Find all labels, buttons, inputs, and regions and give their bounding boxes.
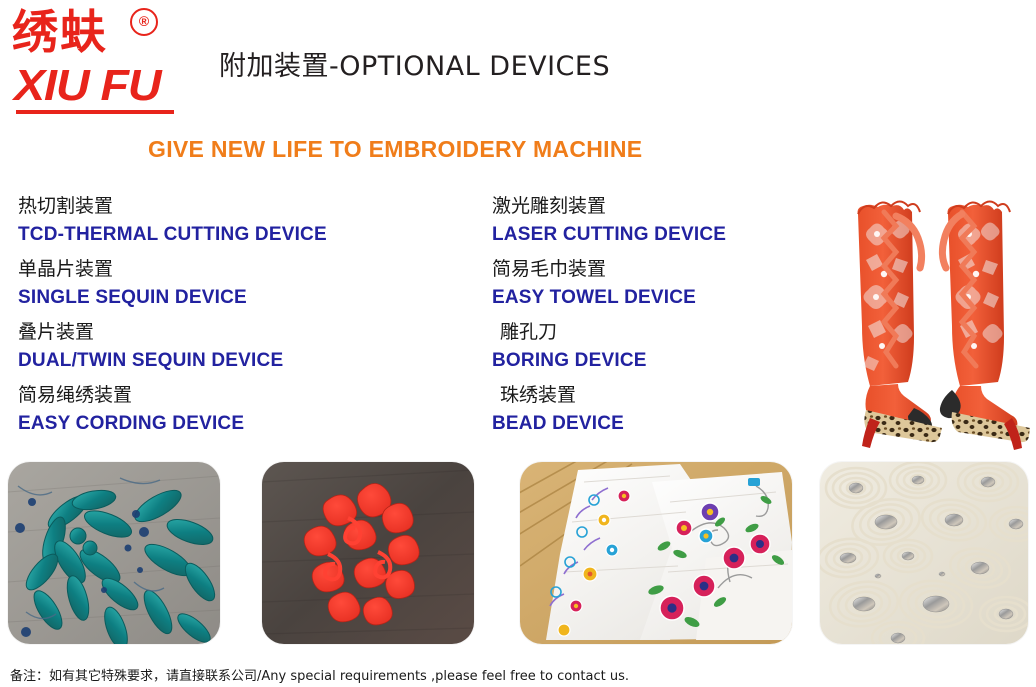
device-name-en: LASER CUTTING DEVICE — [492, 220, 812, 250]
list-item: 单晶片装置 SINGLE SEQUIN DEVICE — [18, 255, 478, 318]
boots-photo — [818, 186, 1032, 452]
photo-gallery — [0, 462, 1036, 644]
page-title: 附加装置-OPTIONAL DEVICES — [219, 44, 610, 83]
gallery-photo-towel-embroidery — [520, 462, 792, 644]
device-name-en: BORING DEVICE — [492, 346, 812, 376]
gallery-photo-cording-sequin — [820, 462, 1028, 644]
device-name-en: DUAL/TWIN SEQUIN DEVICE — [18, 346, 478, 376]
device-column-left: 热切割装置 TCD-THERMAL CUTTING DEVICE 单晶片装置 S… — [18, 192, 478, 444]
gallery-photo-laser-cut-floral — [262, 462, 474, 644]
list-item: 简易毛巾装置 EASY TOWEL DEVICE — [492, 255, 812, 318]
brand-logo: 绣蚨 ® XIU FU — [12, 6, 192, 118]
device-name-en: TCD-THERMAL CUTTING DEVICE — [18, 220, 478, 250]
device-name-cn: 简易毛巾装置 — [492, 255, 812, 283]
device-column-right: 激光雕刻装置 LASER CUTTING DEVICE 简易毛巾装置 EASY … — [492, 192, 812, 444]
footer-note: 备注：如有其它特殊要求，请直接联系公司/Any special requirem… — [10, 665, 629, 684]
list-item: 热切割装置 TCD-THERMAL CUTTING DEVICE — [18, 192, 478, 255]
device-name-en: EASY TOWEL DEVICE — [492, 283, 812, 313]
list-item: 雕孔刀 BORING DEVICE — [492, 318, 812, 381]
list-item: 叠片装置 DUAL/TWIN SEQUIN DEVICE — [18, 318, 478, 381]
page-subtitle: GIVE NEW LIFE TO EMBROIDERY MACHINE — [148, 136, 642, 163]
device-name-en: SINGLE SEQUIN DEVICE — [18, 283, 478, 313]
device-name-cn: 简易绳绣装置 — [18, 381, 478, 409]
device-name-cn: 激光雕刻装置 — [492, 192, 812, 220]
catalog-page: 绣蚨 ® XIU FU 附加装置-OPTIONAL DEVICES GIVE N… — [0, 0, 1036, 687]
device-name-en: BEAD DEVICE — [492, 409, 812, 439]
logo-english-name: XIU FU — [14, 62, 161, 110]
device-name-en: EASY CORDING DEVICE — [18, 409, 478, 439]
device-name-cn: 叠片装置 — [18, 318, 478, 346]
logo-underline — [16, 110, 174, 114]
gallery-photo-ribbon-embroidery — [8, 462, 220, 644]
device-name-cn: 单晶片装置 — [18, 255, 478, 283]
device-name-cn: 热切割装置 — [18, 192, 478, 220]
device-name-cn: 雕孔刀 — [492, 318, 812, 346]
registered-trademark-icon: ® — [130, 8, 158, 36]
logo-chinese-name: 绣蚨 — [12, 6, 108, 58]
list-item: 激光雕刻装置 LASER CUTTING DEVICE — [492, 192, 812, 255]
device-name-cn: 珠绣装置 — [492, 381, 812, 409]
list-item: 珠绣装置 BEAD DEVICE — [492, 381, 812, 444]
list-item: 简易绳绣装置 EASY CORDING DEVICE — [18, 381, 478, 444]
